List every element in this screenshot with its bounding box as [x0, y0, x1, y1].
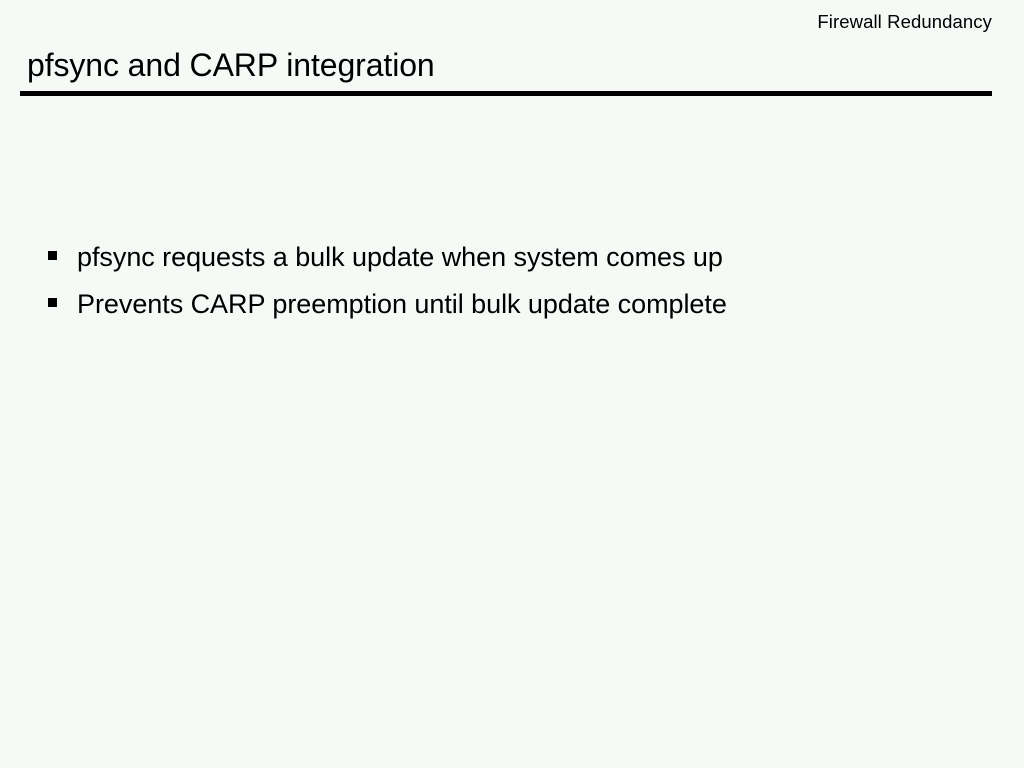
title-divider — [20, 91, 992, 96]
slide-header-topic: Firewall Redundancy — [817, 11, 992, 33]
bullet-list: pfsync requests a bulk update when syste… — [48, 238, 988, 332]
list-item: Prevents CARP preemption until bulk upda… — [48, 285, 988, 323]
presentation-slide: Firewall Redundancy pfsync and CARP inte… — [0, 0, 1024, 768]
square-bullet-icon — [48, 251, 57, 260]
list-item: pfsync requests a bulk update when syste… — [48, 238, 988, 276]
list-item-label: Prevents CARP preemption until bulk upda… — [77, 285, 988, 323]
page-title: pfsync and CARP integration — [27, 45, 435, 85]
slide-content-area: pfsync requests a bulk update when syste… — [0, 100, 1024, 768]
square-bullet-icon — [48, 298, 57, 307]
list-item-label: pfsync requests a bulk update when syste… — [77, 238, 988, 276]
